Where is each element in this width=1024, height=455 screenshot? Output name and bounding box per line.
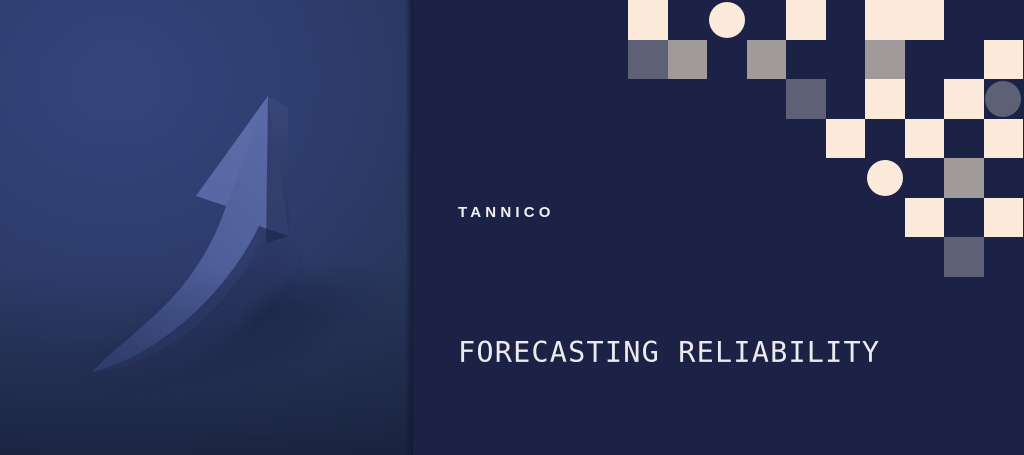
pattern-tile-circle (985, 81, 1021, 117)
floor-shading (0, 265, 413, 455)
pattern-tile-square (984, 40, 1024, 80)
pattern-tile-square (905, 119, 945, 159)
pattern-tile-square (865, 40, 905, 80)
title-block: TANNICO FORECASTING RELIABILITY & DECISI… (458, 205, 1018, 455)
pattern-tile-square (668, 40, 708, 80)
arrow-illustration-panel (0, 0, 413, 455)
pattern-tile-square (826, 119, 866, 159)
pattern-tile-circle (709, 2, 745, 38)
pattern-tile-circle (867, 160, 903, 196)
title-line-1: FORECASTING RELIABILITY (458, 332, 1018, 374)
pattern-tile-square (786, 0, 826, 40)
pattern-tile-square (786, 79, 826, 119)
brand-name: TANNICO (458, 205, 1018, 220)
panel-edge-shading (405, 0, 413, 455)
page-title: FORECASTING RELIABILITY & DECISION UNCER… (458, 248, 1018, 455)
pattern-tile-square (944, 79, 984, 119)
pattern-tile-square (628, 40, 668, 80)
pattern-tile-square (628, 0, 668, 40)
pattern-tile-square (865, 79, 905, 119)
pattern-tile-square (865, 0, 944, 40)
content-panel: TANNICO FORECASTING RELIABILITY & DECISI… (413, 0, 1024, 455)
pattern-tile-square (944, 158, 984, 198)
presentation-slide: TANNICO FORECASTING RELIABILITY & DECISI… (0, 0, 1024, 455)
pattern-tile-square (747, 40, 787, 80)
pattern-tile-square (984, 119, 1024, 159)
